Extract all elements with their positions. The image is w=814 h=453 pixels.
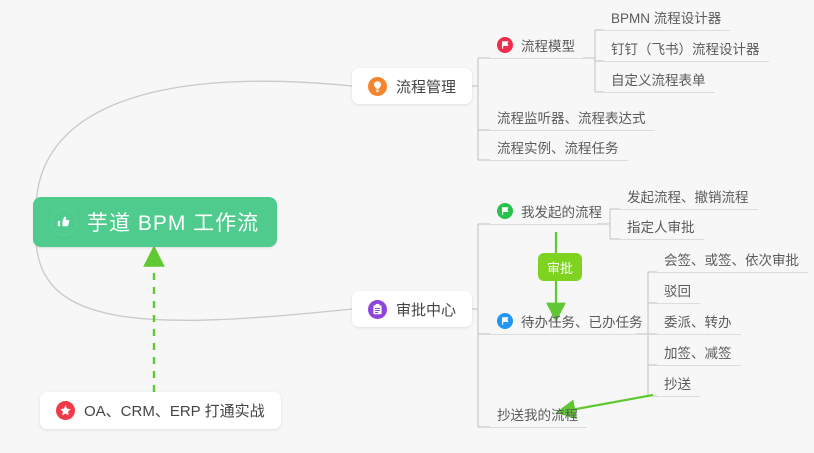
node-dingtalk-feishu-designer[interactable]: 钉钉（飞书）流程设计器 <box>604 34 769 62</box>
star-icon <box>56 401 75 420</box>
flag-icon <box>497 313 513 329</box>
node-label: 发起流程、撤销流程 <box>627 186 749 206</box>
node-process-model[interactable]: 流程模型 <box>490 31 584 59</box>
root-label: 芋道 BPM 工作流 <box>87 207 259 237</box>
node-label: 会签、或签、依次审批 <box>664 249 799 269</box>
node-my-started-process[interactable]: 我发起的流程 <box>490 197 611 225</box>
node-start-cancel-process[interactable]: 发起流程、撤销流程 <box>620 182 758 210</box>
floating-node-label: OA、CRM、ERP 打通实战 <box>84 400 265 421</box>
floating-node-oa-crm-erp[interactable]: OA、CRM、ERP 打通实战 <box>40 392 281 429</box>
mindmap-canvas: 芋道 BPM 工作流 流程管理 流程模型 BPMN 流程设计器 钉钉（飞书）流程… <box>0 0 814 453</box>
node-custom-process-form[interactable]: 自定义流程表单 <box>604 65 715 93</box>
tag-approval[interactable]: 审批 <box>538 253 582 281</box>
flag-icon <box>497 203 513 219</box>
node-reject[interactable]: 驳回 <box>657 276 700 304</box>
edge-root-to-approval-center <box>36 236 352 320</box>
edge-root-to-process-management <box>36 81 352 210</box>
node-label: 待办任务、已办任务 <box>521 311 643 331</box>
node-listener-expression[interactable]: 流程监听器、流程表达式 <box>490 103 655 131</box>
branch-approval-center[interactable]: 审批中心 <box>352 291 472 327</box>
node-carbon-copy[interactable]: 抄送 <box>657 369 700 397</box>
thumbs-up-icon <box>51 209 77 235</box>
node-assignee-approval[interactable]: 指定人审批 <box>620 212 704 240</box>
node-label: 委派、转办 <box>664 311 732 331</box>
tag-label: 审批 <box>547 258 573 277</box>
node-label: 抄送我的流程 <box>497 404 578 424</box>
lightbulb-icon <box>368 77 387 96</box>
root-node[interactable]: 芋道 BPM 工作流 <box>33 197 277 247</box>
node-cc-to-me-process[interactable]: 抄送我的流程 <box>490 400 587 428</box>
node-label: 自定义流程表单 <box>611 69 706 89</box>
node-todo-done-task[interactable]: 待办任务、已办任务 <box>490 307 652 335</box>
node-label: 我发起的流程 <box>521 201 602 221</box>
node-label: 钉钉（飞书）流程设计器 <box>611 38 760 58</box>
node-label: 流程模型 <box>521 35 575 55</box>
node-add-remove-sign[interactable]: 加签、减签 <box>657 338 741 366</box>
node-label: 抄送 <box>664 373 691 393</box>
node-label: 加签、减签 <box>664 342 732 362</box>
node-label: 驳回 <box>664 280 691 300</box>
node-label: BPMN 流程设计器 <box>611 7 721 27</box>
node-countersign[interactable]: 会签、或签、依次审批 <box>657 245 808 273</box>
node-bpmn-designer[interactable]: BPMN 流程设计器 <box>604 3 730 31</box>
branch-label: 审批中心 <box>396 299 456 320</box>
node-label: 流程实例、流程任务 <box>497 137 619 157</box>
branch-label: 流程管理 <box>396 76 456 97</box>
node-instance-task[interactable]: 流程实例、流程任务 <box>490 133 628 161</box>
clipboard-icon <box>368 300 387 319</box>
flag-icon <box>497 37 513 53</box>
node-delegate-transfer[interactable]: 委派、转办 <box>657 307 741 335</box>
node-label: 指定人审批 <box>627 216 695 236</box>
branch-process-management[interactable]: 流程管理 <box>352 68 472 104</box>
node-label: 流程监听器、流程表达式 <box>497 107 646 127</box>
